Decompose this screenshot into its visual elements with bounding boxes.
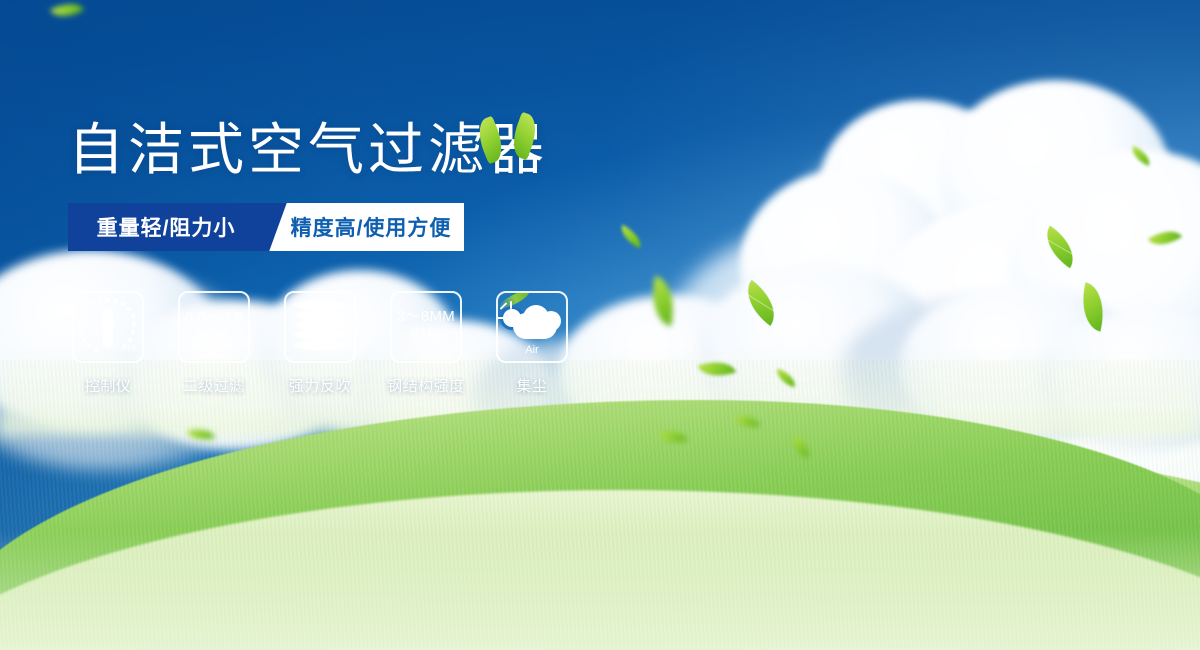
sprout-leaves-icon — [474, 112, 564, 174]
page-title: 自洁式空气过滤器 — [68, 120, 688, 179]
gauge-icon: NO OFF — [72, 291, 144, 363]
cloud-graphic: Air — [501, 301, 563, 353]
feature-label: 控制仪 — [85, 375, 132, 396]
cartridge-graphic — [293, 298, 347, 356]
feature-item-dust[interactable]: Air 集尘 — [492, 291, 572, 396]
gauge-dial: NO OFF — [78, 298, 138, 356]
feature-item-blowback[interactable]: 强力反吹 — [280, 291, 360, 396]
grass-field — [0, 360, 1200, 650]
feature-label: 集尘 — [516, 375, 547, 396]
tagline-badge: 重量轻/阻力小 精度高/使用方便 — [68, 203, 464, 251]
product-banner: 自洁式空气过滤器 重量轻/阻力小 精度高/使用方便 NO OFF — [0, 0, 1200, 650]
feature-item-filtration[interactable]: 0.6～0.8 MPA 二级过滤 — [174, 291, 254, 396]
feature-label: 钢结构强度 — [387, 375, 465, 396]
grass-light-band — [0, 530, 1200, 650]
steel-thickness: 3～8MM — [397, 308, 455, 326]
pressure-unit: MPA — [198, 327, 230, 345]
filter-cartridge-icon — [284, 291, 356, 363]
feature-list: NO OFF — [68, 291, 688, 396]
feature-label: 二级过滤 — [183, 375, 245, 396]
banner-content: 自洁式空气过滤器 重量轻/阻力小 精度高/使用方便 NO OFF — [68, 120, 688, 396]
air-label: Air — [501, 344, 563, 356]
air-cloud-icon: Air — [496, 291, 568, 363]
steel-plate-icon: 3～8MM 钢板 — [390, 291, 462, 363]
tagline-right: 精度高/使用方便 — [264, 203, 464, 251]
feature-item-steel[interactable]: 3～8MM 钢板 钢结构强度 — [386, 291, 466, 396]
gauge-needle — [103, 308, 113, 348]
pressure-value: 0.6～0.8 — [185, 309, 244, 327]
tagline-left: 重量轻/阻力小 — [68, 203, 264, 251]
pressure-icon: 0.6～0.8 MPA — [178, 291, 250, 363]
steel-material: 钢板 — [410, 327, 443, 347]
gauge-no-label: NO — [78, 322, 90, 329]
feature-item-controller[interactable]: NO OFF — [68, 291, 148, 396]
feature-label: 强力反吹 — [289, 375, 351, 396]
